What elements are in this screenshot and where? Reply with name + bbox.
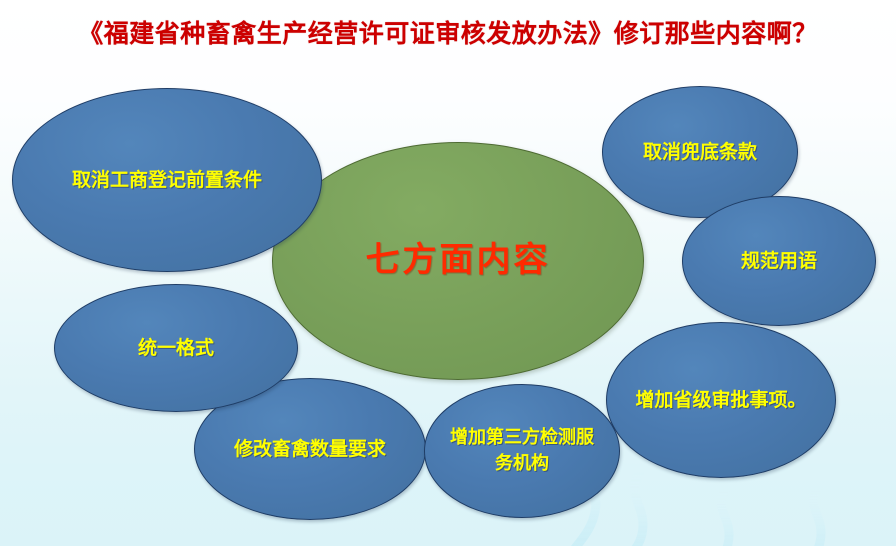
bubble-top-left[interactable]: 取消工商登记前置条件: [12, 88, 322, 272]
center-bubble-label: 七方面内容: [366, 239, 551, 283]
bubble-top-left-label: 取消工商登记前置条件: [72, 168, 262, 192]
bubble-bottom-left-label: 修改畜禽数量要求: [234, 437, 386, 461]
slide-canvas: 《福建省种畜禽生产经营许可证审核发放办法》修订那些内容啊？ 七方面内容 取消工商…: [0, 0, 896, 546]
bubble-top-right-label: 取消兜底条款: [643, 140, 757, 164]
bubble-right-label: 规范用语: [741, 249, 817, 273]
bubble-right[interactable]: 规范用语: [682, 196, 876, 326]
page-title: 《福建省种畜禽生产经营许可证审核发放办法》修订那些内容啊？: [0, 18, 896, 50]
bubble-left-label: 统一格式: [138, 336, 214, 360]
center-bubble[interactable]: 七方面内容: [272, 142, 644, 380]
bubble-bottom-right-label: 增加省级审批事项。: [635, 388, 806, 412]
bubble-bottom-right[interactable]: 增加省级审批事项。: [606, 322, 836, 478]
bubble-left[interactable]: 统一格式: [54, 284, 298, 412]
bubble-bottom-center-label: 增加第三方检测服 务机构: [450, 425, 594, 476]
bubble-bottom-center[interactable]: 增加第三方检测服 务机构: [424, 384, 620, 518]
